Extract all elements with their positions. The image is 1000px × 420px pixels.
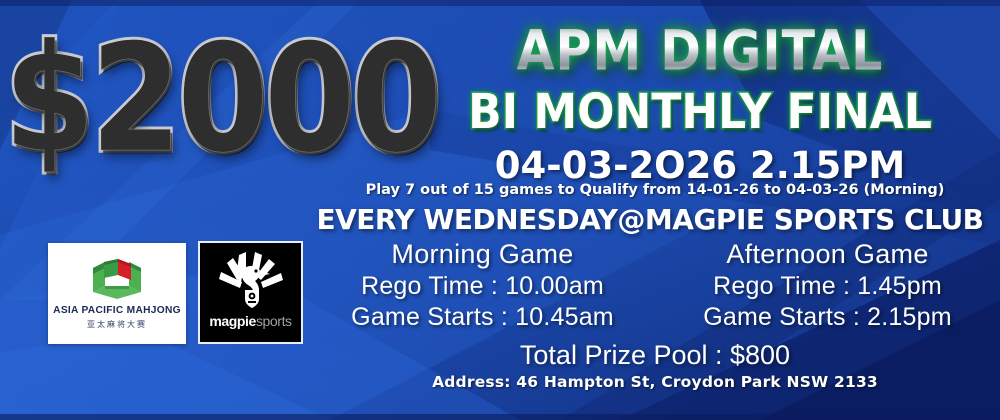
magpie-sports-logo: magpiesports (198, 241, 303, 344)
promo-banner: $2000 APM DIGITAL BI MONTHLY FINAL 04-03… (0, 0, 1000, 420)
apm-logo-name: ASIA PACIFIC MAHJONG (53, 305, 181, 316)
qualify-note: Play 7 out of 15 games to Qualify from 1… (310, 181, 1000, 199)
session-start-time: Game Starts : 10.45am (310, 302, 655, 333)
session-afternoon: Afternoon Game Rego Time : 1.45pm Game S… (655, 238, 1000, 333)
event-subtitle: BI MONTHLY FINAL (400, 83, 1000, 142)
session-name: Afternoon Game (655, 238, 1000, 271)
magpie-bird-crest-icon (215, 249, 287, 311)
session-name: Morning Game (310, 238, 655, 271)
apm-logo-name-cn: 亚太麻将大赛 (87, 319, 147, 330)
magpie-word-light: sports (256, 313, 292, 329)
venue-line: EVERY WEDNESDAY@MAGPIE SPORTS CLUB (300, 203, 1000, 237)
event-title: APM DIGITAL (400, 20, 1000, 83)
asia-pacific-mahjong-logo: ASIA PACIFIC MAHJONG 亚太麻将大赛 (48, 243, 186, 344)
session-morning: Morning Game Rego Time : 10.00am Game St… (310, 238, 655, 333)
prize-amount-block: $2000 (8, 10, 408, 190)
headline-block: APM DIGITAL BI MONTHLY FINAL 04-03-2O26 … (400, 20, 1000, 187)
total-prize-pool: Total Prize Pool : $800 (310, 338, 1000, 372)
asia-pacific-mahjong-cube-icon (91, 258, 143, 300)
session-rego-time: Rego Time : 1.45pm (655, 271, 1000, 302)
session-columns: Morning Game Rego Time : 10.00am Game St… (310, 238, 1000, 333)
prize-amount: $2000 (4, 0, 412, 204)
magpie-word-bold: magpie (209, 313, 256, 329)
magpie-sports-wordmark: magpiesports (209, 313, 291, 329)
session-start-time: Game Starts : 2.15pm (655, 302, 1000, 333)
session-rego-time: Rego Time : 10.00am (310, 271, 655, 302)
venue-address: Address: 46 Hampton St, Croydon Park NSW… (310, 372, 1000, 392)
